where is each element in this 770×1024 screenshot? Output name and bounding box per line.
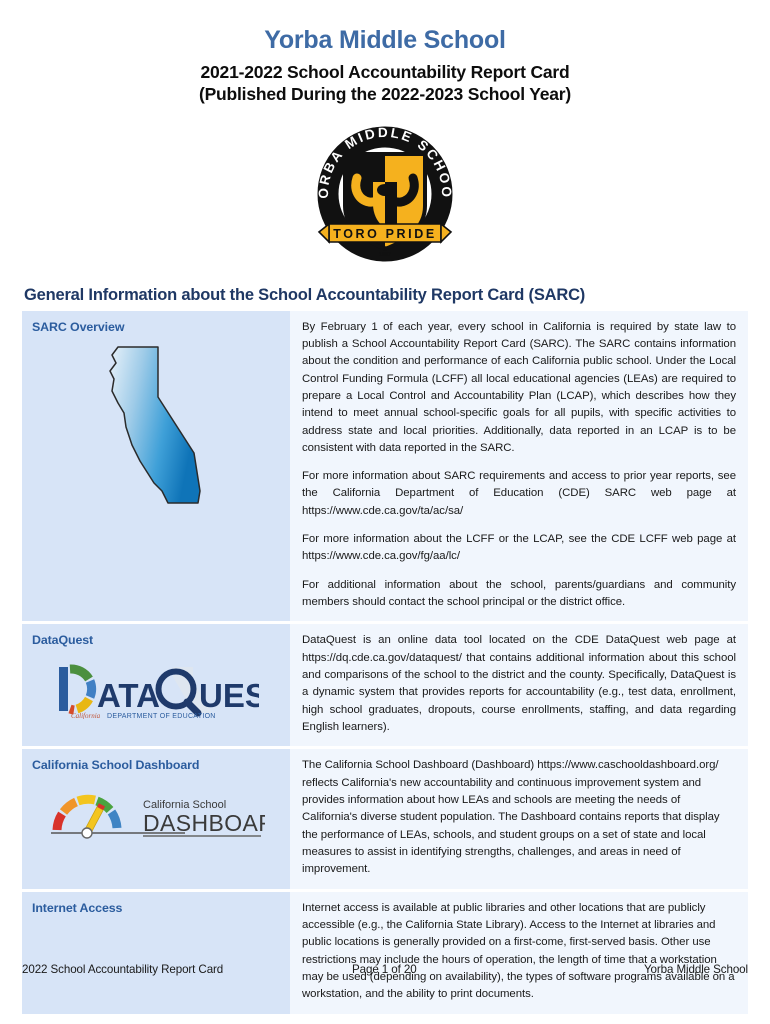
paragraph: For additional information about the sch…	[302, 577, 736, 612]
footer-page-number: Page 1 of 20	[352, 963, 552, 976]
footer-left: 2022 School Accountability Report Card	[22, 963, 352, 976]
document-header: Yorba Middle School 2021-2022 School Acc…	[22, 0, 748, 106]
dataquest-tagline-rest: DEPARTMENT OF EDUCATION	[107, 713, 216, 719]
california-map-container	[32, 341, 280, 529]
row-label-dataquest: DataQuest	[32, 632, 280, 648]
dashboard-logo-line2: DASHBOARD	[143, 810, 265, 836]
general-information-table: SARC Overview	[22, 311, 748, 1014]
dataquest-logo-icon: ATA UEST California DEPARTMENT OF EDUCAT…	[53, 661, 259, 719]
ca-dashboard-logo-icon: California School DASHBOARD	[47, 788, 265, 840]
dataquest-logo-container: ATA UEST California DEPARTMENT OF EDUCAT…	[32, 661, 280, 719]
paragraph: By February 1 of each year, every school…	[302, 319, 736, 458]
row-body-cell-dashboard: The California School Dashboard (Dashboa…	[290, 749, 748, 888]
dashboard-logo-container: California School DASHBOARD	[32, 788, 280, 840]
school-crest-icon: YORBA MIDDLE SCHOOL	[311, 120, 459, 262]
school-crest-container: YORBA MIDDLE SCHOOL	[22, 120, 748, 262]
row-body-cell-sarc-overview: By February 1 of each year, every school…	[290, 311, 748, 622]
report-subtitle-line1: 2021-2022 School Accountability Report C…	[200, 62, 569, 82]
section-heading: General Information about the School Acc…	[24, 286, 748, 305]
footer-right: Yorba Middle School	[552, 963, 748, 976]
row-label-dashboard: California School Dashboard	[32, 757, 280, 773]
page-title: Yorba Middle School	[22, 26, 748, 55]
row-label-cell-internet-access: Internet Access	[22, 892, 290, 1014]
report-subtitle: 2021-2022 School Accountability Report C…	[22, 61, 748, 106]
table-row: Internet Access Internet access is avail…	[22, 892, 748, 1014]
paragraph: DataQuest is an online data tool located…	[302, 632, 736, 736]
paragraph: Internet access is available at public l…	[302, 900, 736, 1004]
table-row: DataQuest ATA	[22, 624, 748, 746]
page-footer: 2022 School Accountability Report Card P…	[22, 963, 748, 976]
paragraph: For more information about the LCFF or t…	[302, 531, 736, 566]
row-label-sarc-overview: SARC Overview	[32, 319, 280, 335]
table-row: California School Dashboard	[22, 749, 748, 888]
california-map-icon	[96, 341, 216, 529]
crest-est-year: 1957	[379, 252, 391, 258]
row-body-cell-internet-access: Internet access is available at public l…	[290, 892, 748, 1014]
dataquest-tagline-italic: California	[71, 712, 101, 719]
row-label-internet-access: Internet Access	[32, 900, 280, 916]
row-label-cell-dataquest: DataQuest ATA	[22, 624, 290, 746]
table-row: SARC Overview	[22, 311, 748, 622]
paragraph: For more information about SARC requirem…	[302, 468, 736, 520]
row-label-cell-dashboard: California School Dashboard	[22, 749, 290, 888]
row-label-cell-sarc-overview: SARC Overview	[22, 311, 290, 622]
sarc-page: Yorba Middle School 2021-2022 School Acc…	[0, 0, 770, 1024]
paragraph: The California School Dashboard (Dashboa…	[302, 757, 736, 878]
dataquest-ata-text: ATA	[97, 677, 160, 714]
report-subtitle-line2: (Published During the 2022-2023 School Y…	[22, 83, 748, 105]
crest-banner-text: TORO PRIDE	[333, 227, 437, 241]
row-body-cell-dataquest: DataQuest is an online data tool located…	[290, 624, 748, 746]
dataquest-uest-text: UEST	[199, 677, 259, 714]
